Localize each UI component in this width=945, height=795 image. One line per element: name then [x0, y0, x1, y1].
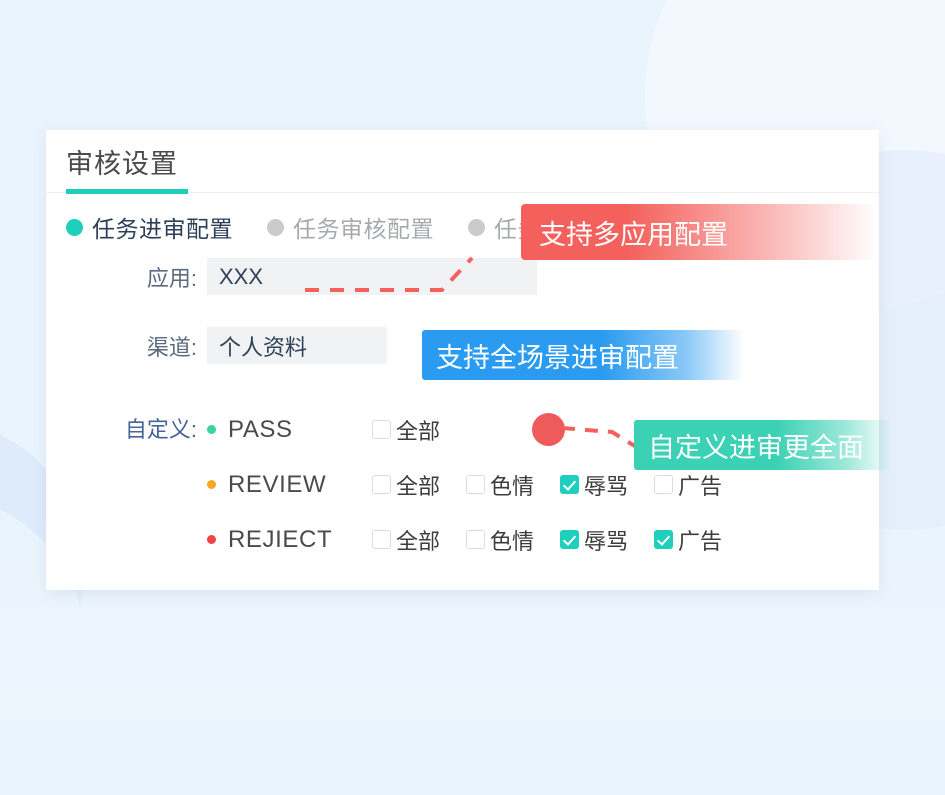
verdict-label: REJIECT [228, 526, 332, 554]
annotation-text: 支持全场景进审配置 [436, 336, 679, 375]
checkbox-label: 全部 [396, 469, 440, 501]
annotation-badge-custom-full: 自定义进审更全面 [634, 420, 892, 470]
radio-option-task-review-config[interactable]: 任务审核配置 [267, 210, 434, 244]
radio-dot-icon [267, 219, 284, 236]
checkbox-icon [372, 530, 391, 549]
checkbox-checked-icon [560, 475, 579, 494]
verdict-row-reject: REJIECT 全部 色情 辱骂 广告 [207, 512, 748, 567]
status-dot-icon [207, 535, 216, 544]
checkbox-checked-icon [560, 530, 579, 549]
checkbox-icon [466, 530, 485, 549]
checkbox-icon [654, 475, 673, 494]
checkbox-icon [466, 475, 485, 494]
card-header: 审核设置 [46, 130, 879, 193]
radio-dot-icon [66, 219, 83, 236]
annotation-badge-multi-app: 支持多应用配置 [521, 204, 879, 260]
checkbox-pass-all[interactable]: 全部 [372, 414, 466, 446]
checkbox-review-abuse[interactable]: 辱骂 [560, 469, 654, 501]
verdict-name-reject: REJIECT [207, 526, 372, 554]
form-row-channel: 渠道: 个人资料 [66, 327, 387, 364]
annotation-text: 支持多应用配置 [539, 213, 728, 252]
channel-input[interactable]: 个人资料 [207, 327, 387, 364]
status-dot-icon [207, 425, 216, 434]
checkbox-label: 辱骂 [584, 524, 628, 556]
status-dot-icon [207, 480, 216, 489]
channel-field-label: 渠道: [66, 330, 207, 362]
page-title: 审核设置 [66, 142, 178, 181]
radio-label: 任务审核配置 [293, 210, 434, 244]
checkbox-checked-icon [654, 530, 673, 549]
checkbox-icon [372, 475, 391, 494]
annotation-connector-app [300, 250, 560, 310]
checkbox-reject-all[interactable]: 全部 [372, 524, 466, 556]
annotation-badge-all-scenario: 支持全场景进审配置 [422, 330, 744, 380]
verdict-label: PASS [228, 416, 293, 444]
annotation-text: 自定义进审更全面 [648, 426, 864, 465]
radio-option-task-entry-config[interactable]: 任务进审配置 [66, 210, 233, 244]
title-underline-accent [66, 189, 188, 194]
radio-label: 任务进审配置 [92, 210, 233, 244]
verdict-label: REVIEW [228, 471, 326, 499]
checkbox-icon [372, 420, 391, 439]
checkbox-label: 全部 [396, 524, 440, 556]
checkbox-reject-abuse[interactable]: 辱骂 [560, 524, 654, 556]
checkbox-label: 广告 [678, 469, 722, 501]
checkbox-label: 广告 [678, 524, 722, 556]
checkbox-label: 辱骂 [584, 469, 628, 501]
checkbox-reject-ad[interactable]: 广告 [654, 524, 748, 556]
verdict-name-pass: PASS [207, 416, 372, 444]
custom-field-label: 自定义: [66, 412, 207, 444]
radio-dot-icon [468, 219, 485, 236]
checkbox-label: 色情 [490, 469, 534, 501]
config-mode-radio-group[interactable]: 任务进审配置 任务审核配置 任务 [66, 210, 575, 244]
checkbox-review-ad[interactable]: 广告 [654, 469, 748, 501]
checkbox-label: 全部 [396, 414, 440, 446]
checkbox-reject-porn[interactable]: 色情 [466, 524, 560, 556]
checkbox-review-porn[interactable]: 色情 [466, 469, 560, 501]
checkbox-review-all[interactable]: 全部 [372, 469, 466, 501]
checkbox-label: 色情 [490, 524, 534, 556]
verdict-name-review: REVIEW [207, 471, 372, 499]
app-field-label: 应用: [66, 261, 207, 293]
